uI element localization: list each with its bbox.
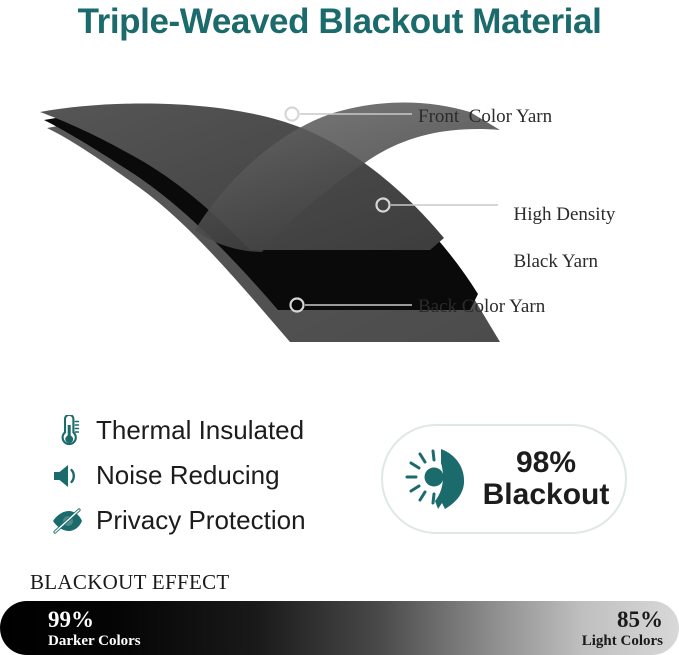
blackout-effect-left: 99% Darker Colors: [48, 607, 141, 650]
eye-slash-icon: [46, 502, 88, 540]
callout-label-front-color-yarn: Front Color Yarn: [418, 105, 552, 128]
feature-label-thermal-insulated: Thermal Insulated: [96, 415, 304, 446]
feature-label-privacy-protection: Privacy Protection: [96, 505, 306, 536]
feature-item-noise-reducing: Noise Reducing: [46, 453, 376, 498]
badge-word: Blackout: [483, 479, 610, 511]
darker-colors-label: Darker Colors: [48, 632, 141, 650]
blackout-effect-bar: 99% Darker Colors 85% Light Colors: [0, 601, 679, 655]
feature-list: Thermal Insulated Noise Reducing Privacy…: [46, 408, 376, 543]
badge-text: 98% Blackout: [483, 447, 610, 511]
callout-line-2: Black Yarn: [514, 251, 598, 272]
speaker-icon: [46, 457, 88, 495]
light-colors-percent: 85%: [582, 607, 663, 632]
feature-item-thermal-insulated: Thermal Insulated: [46, 408, 376, 453]
badge-percent: 98%: [483, 447, 610, 479]
blackout-effect-heading: BLACKOUT EFFECT: [30, 570, 230, 595]
callout-label-high-density-black-yarn: High Density Black Yarn: [504, 180, 615, 273]
callout-label-back-color-yarn: Back Color Yarn: [418, 295, 545, 318]
blackout-badge: 98% Blackout: [381, 424, 627, 534]
darker-colors-percent: 99%: [48, 607, 141, 632]
blackout-effect-right: 85% Light Colors: [582, 607, 663, 650]
thermometer-icon: [46, 412, 88, 450]
light-colors-label: Light Colors: [582, 632, 663, 650]
page-title: Triple-Weaved Blackout Material: [0, 2, 679, 42]
sun-blocked-icon: [399, 441, 477, 517]
feature-item-privacy-protection: Privacy Protection: [46, 498, 376, 543]
callout-line-1: High Density: [514, 204, 616, 225]
feature-label-noise-reducing: Noise Reducing: [96, 460, 280, 491]
callout-dot-front: [286, 108, 299, 121]
